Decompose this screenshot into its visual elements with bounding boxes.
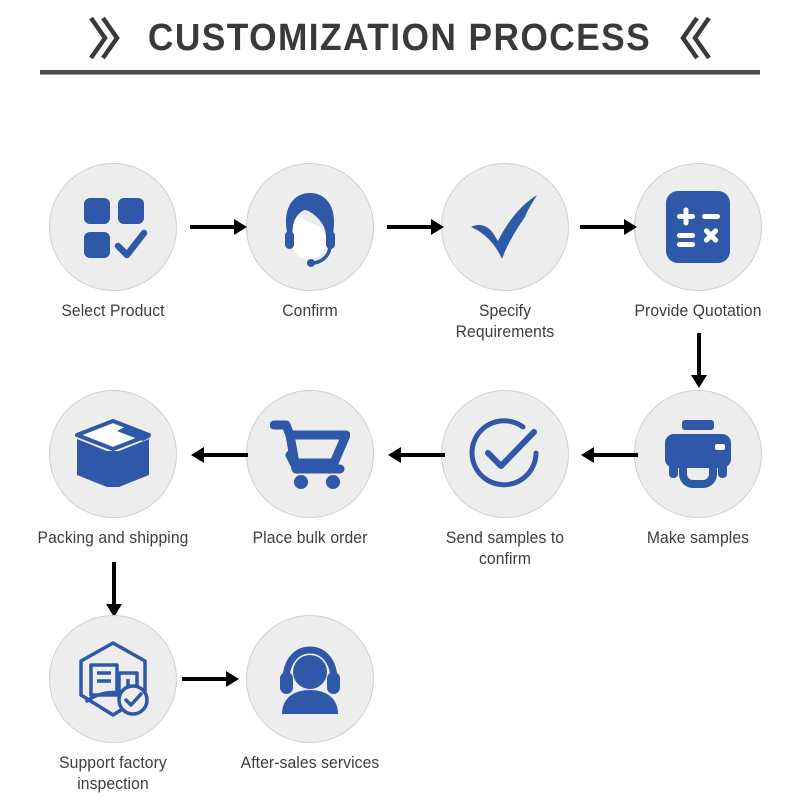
step-label: Provide Quotation <box>622 301 774 322</box>
checkmark-icon <box>465 187 545 267</box>
process-step-place-bulk-order[interactable]: Place bulk order <box>230 390 390 549</box>
flow-connector-down-row2-row3 <box>103 562 125 618</box>
headset-agent-icon <box>270 187 350 267</box>
flow-arrow-right <box>182 668 240 690</box>
step-label: Packing and shipping <box>37 528 189 549</box>
printer-icon <box>659 418 737 490</box>
step-icon-bubble <box>49 615 177 743</box>
step-label: Select Product <box>37 301 189 322</box>
calculator-icon <box>664 189 732 265</box>
flow-arrow-right <box>190 216 248 238</box>
grid-check-icon <box>76 190 150 264</box>
step-icon-bubble <box>246 390 374 518</box>
step-icon-bubble <box>441 390 569 518</box>
process-step-send-samples-to-confirm[interactable]: Send samples to confirm <box>425 390 585 570</box>
flow-arrow-left <box>387 444 445 466</box>
step-icon-bubble <box>634 163 762 291</box>
process-step-support-factory-inspection[interactable]: Support factory inspection <box>33 615 193 795</box>
process-step-make-samples[interactable]: Make samples <box>618 390 778 549</box>
step-label: Specify Requirements <box>429 301 581 343</box>
flow-arrow-right <box>580 216 638 238</box>
step-icon-bubble <box>441 163 569 291</box>
flow-arrow-left <box>190 444 248 466</box>
step-icon-bubble <box>49 390 177 518</box>
process-step-after-sales-services[interactable]: After-sales services <box>230 615 390 774</box>
step-label: Confirm <box>234 301 386 322</box>
step-label: Support factory inspection <box>37 753 189 795</box>
step-icon-bubble <box>246 615 374 743</box>
circle-check-icon <box>466 415 544 493</box>
process-flow: Select Product Confirm <box>0 0 800 800</box>
factory-inspection-icon <box>73 639 153 719</box>
process-step-confirm[interactable]: Confirm <box>230 163 390 322</box>
step-icon-bubble <box>49 163 177 291</box>
shopping-cart-icon <box>270 417 350 491</box>
process-step-provide-quotation[interactable]: Provide Quotation <box>618 163 778 322</box>
flow-arrow-right <box>387 216 445 238</box>
step-label: Place bulk order <box>234 528 386 549</box>
step-label: Make samples <box>622 528 774 549</box>
support-person-icon <box>270 642 350 716</box>
flow-arrow-left <box>580 444 638 466</box>
process-step-packing-and-shipping[interactable]: Packing and shipping <box>33 390 193 549</box>
step-icon-bubble <box>634 390 762 518</box>
step-label: After-sales services <box>234 753 386 774</box>
step-icon-bubble <box>246 163 374 291</box>
flow-connector-down-row1-row2 <box>688 333 710 389</box>
process-step-specify-requirements[interactable]: Specify Requirements <box>425 163 585 343</box>
package-box-icon <box>73 417 153 491</box>
step-label: Send samples to confirm <box>429 528 581 570</box>
process-step-select-product[interactable]: Select Product <box>33 163 193 322</box>
